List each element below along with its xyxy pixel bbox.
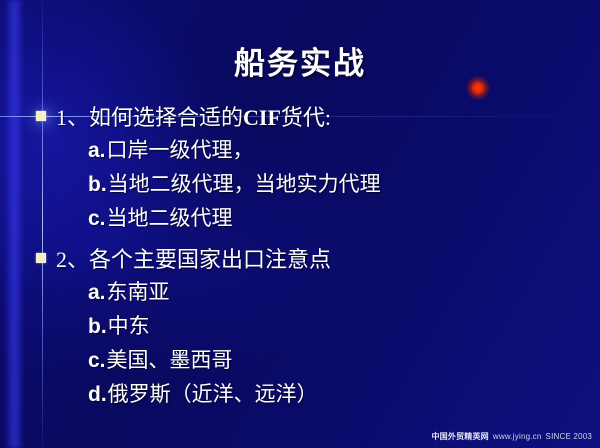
list-item-marker: c. — [88, 207, 106, 231]
slide-canvas: 船务实战 1、 如何选择合适的CIF货代: a. 口岸一级代理， b. 当地二级… — [0, 0, 600, 448]
footer-site-name: 中国外贸精英网 — [431, 432, 488, 441]
top-level-item-2: 2、 各个主要国家出口注意点 — [0, 242, 600, 276]
square-bullet-icon — [36, 253, 46, 263]
list-item: c. 美国、墨西哥 — [0, 344, 600, 378]
list-item-label: 口岸一级代理， — [107, 134, 254, 164]
footer-url[interactable]: www.jying.cn — [493, 432, 542, 441]
item-number-2: 2、 — [56, 242, 89, 274]
list-item-marker: d. — [88, 383, 107, 407]
list-item: a. 东南亚 — [0, 276, 600, 310]
footer-since: SINCE 2003 — [546, 432, 592, 441]
list-item-label: 中东 — [108, 310, 150, 340]
top-level-item-1: 1、 如何选择合适的CIF货代: — [0, 100, 600, 134]
item-number-1: 1、 — [56, 100, 89, 132]
list-item: b. 当地二级代理，当地实力代理 — [0, 168, 600, 202]
content-group-2: 2、 各个主要国家出口注意点 a. 东南亚 b. 中东 c. 美国、墨西哥 d.… — [0, 242, 600, 412]
list-item: d. 俄罗斯（近洋、远洋） — [0, 378, 600, 412]
slide-body: 1、 如何选择合适的CIF货代: a. 口岸一级代理， b. 当地二级代理，当地… — [0, 100, 600, 412]
slide-title: 船务实战 — [0, 38, 600, 83]
footer-watermark: 中国外贸精英网www.jying.cnSINCE 2003 — [431, 431, 592, 442]
list-item: b. 中东 — [0, 310, 600, 344]
list-item-marker: a. — [88, 139, 106, 163]
item-heading-2: 各个主要国家出口注意点 — [89, 242, 331, 274]
heading-emphasis-cif: CIF — [243, 105, 281, 130]
square-bullet-icon — [36, 111, 46, 121]
list-item-label: 当地二级代理，当地实力代理 — [108, 168, 381, 198]
list-item-label: 俄罗斯（近洋、远洋） — [108, 378, 318, 408]
heading-suffix-1: 货代: — [281, 105, 331, 130]
list-item-label: 美国、墨西哥 — [107, 344, 233, 374]
list-item: c. 当地二级代理 — [0, 202, 600, 236]
heading-prefix-1: 如何选择合适的 — [89, 105, 243, 130]
list-item-marker: a. — [88, 281, 106, 305]
list-item-marker: b. — [88, 315, 107, 339]
list-item-label: 当地二级代理 — [107, 202, 233, 232]
list-item: a. 口岸一级代理， — [0, 134, 600, 168]
list-item-label: 东南亚 — [107, 276, 170, 306]
list-item-marker: c. — [88, 349, 106, 373]
item-heading-1: 如何选择合适的CIF货代: — [89, 100, 331, 132]
content-group-1: 1、 如何选择合适的CIF货代: a. 口岸一级代理， b. 当地二级代理，当地… — [0, 100, 600, 236]
list-item-marker: b. — [88, 173, 107, 197]
